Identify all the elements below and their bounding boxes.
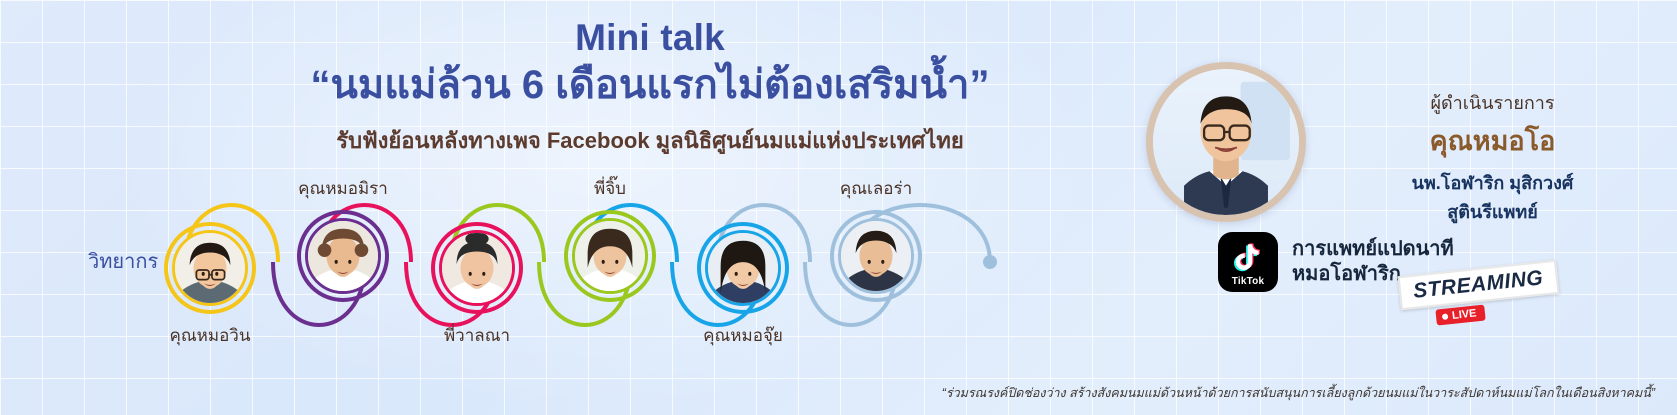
live-badge: LIVE xyxy=(1435,305,1486,326)
ring-inner xyxy=(172,230,248,306)
speaker-name-label: คุณเลอร่า xyxy=(840,175,912,202)
host-nickname: คุณหมอโอ xyxy=(1320,119,1665,162)
host-photo xyxy=(1153,69,1299,215)
host-avatar xyxy=(1146,62,1306,222)
host-fullname: นพ.โอฬาริก มุสิกวงศ์ xyxy=(1320,168,1665,197)
speaker-name-label: พี่จิ๊บ xyxy=(594,175,626,202)
tiktok-handle-line1: การแพทย์แปดนาที xyxy=(1292,237,1454,262)
ring-inner xyxy=(572,218,648,294)
replay-subtitle: รับฟังย้อนหลังทางเพจ Facebook มูลนิธิศูน… xyxy=(180,123,1120,158)
tiktok-icon[interactable]: TikTok xyxy=(1218,232,1278,292)
host-info: ผู้ดำเนินรายการ คุณหมอโอ นพ.โอฬาริก มุสิ… xyxy=(1320,88,1665,226)
headline-block: Mini talk “นมแม่ล้วน 6 เดือนแรกไม่ต้องเส… xyxy=(180,18,1120,158)
speaker-name-label: คุณหมอมิรา xyxy=(298,175,388,202)
speaker-avatar-ring xyxy=(164,222,256,314)
speaker-name-label: พี่วาลณา xyxy=(444,322,510,349)
speaker-node-4[interactable]: พี่จิ๊บ xyxy=(564,210,656,302)
speaker-avatar-ring xyxy=(564,210,656,302)
campaign-tagline: “ร่วมรณรงค์ปิดช่องว่าง สร้างสังคมนมแม่ด้… xyxy=(942,383,1655,403)
speaker-avatar-ring xyxy=(431,222,523,314)
speaker-avatar-ring xyxy=(297,210,389,302)
live-label: LIVE xyxy=(1451,307,1477,321)
live-dot-icon xyxy=(1442,313,1449,320)
timeline-dot-7 xyxy=(983,255,997,269)
host-specialty: สูตินรีแพทย์ xyxy=(1320,197,1665,226)
ring-inner xyxy=(705,230,781,306)
speaker-name-label: คุณหมอจุ๊ย xyxy=(703,322,783,349)
ring-inner xyxy=(838,218,914,294)
speaker-node-2[interactable]: คุณหมอมิรา xyxy=(297,210,389,302)
speaker-name-label: คุณหมอวิน xyxy=(170,322,251,349)
talk-topic-title: “นมแม่ล้วน 6 เดือนแรกไม่ต้องเสริมน้ำ” xyxy=(180,61,1120,110)
speaker-node-5[interactable]: คุณหมอจุ๊ย xyxy=(697,222,789,314)
speaker-node-6[interactable]: คุณเลอร่า xyxy=(830,210,922,302)
ring-inner xyxy=(439,230,515,306)
speaker-avatar-ring xyxy=(830,210,922,302)
speaker-avatar-ring xyxy=(697,222,789,314)
speaker-node-3[interactable]: พี่วาลณา xyxy=(431,222,523,314)
speakers-section-label: วิทยากร xyxy=(88,245,158,277)
ring-inner xyxy=(305,218,381,294)
host-role-label: ผู้ดำเนินรายการ xyxy=(1320,88,1665,117)
webinar-banner: Mini talk “นมแม่ล้วน 6 เดือนแรกไม่ต้องเส… xyxy=(0,0,1677,415)
tiktok-wordmark: TikTok xyxy=(1232,276,1265,287)
page-title: Mini talk xyxy=(180,18,1120,59)
speaker-node-1[interactable]: คุณหมอวิน xyxy=(164,222,256,314)
tiktok-note-glyph xyxy=(1231,240,1265,274)
